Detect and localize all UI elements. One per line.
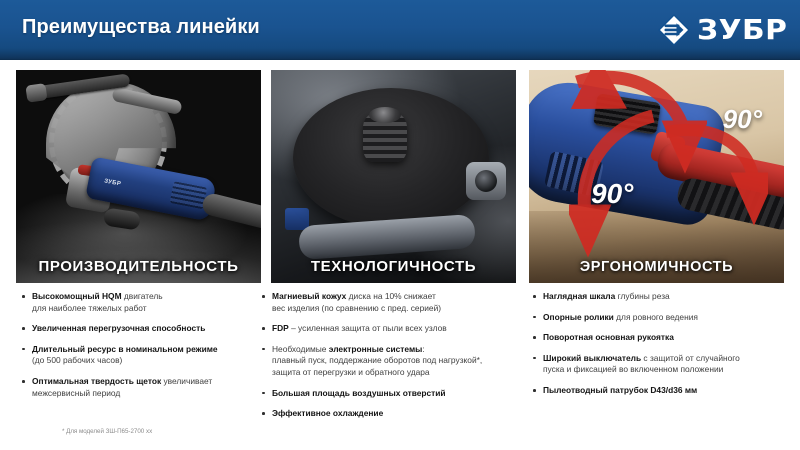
bullet-dot-icon [533,295,536,298]
bullet-emphasis: электронные системы [329,344,423,354]
angle-label-right: 90° [723,104,762,135]
bullet-emphasis: Длительный ресурс в номинальном режиме [32,344,218,354]
feature-list-performance: Высокомощный HQM двигательдля наиболее т… [22,291,248,408]
card-performance: ЗУБР ПРОИЗВОДИТЕЛЬНОСТЬ [16,70,261,283]
bullet-rest: диска на 10% снижает [346,291,436,301]
bullet-dot-icon [22,380,25,383]
feature-bullet: Большая площадь воздушных отверстий [262,388,514,400]
feature-bullet: Широкий выключатель с защитой от случайн… [533,353,785,376]
bullet-emphasis: Пылеотводный патрубок D43/d36 мм [543,385,697,395]
bullet-line2: плавный пуск, поддержание оборотов под н… [272,355,482,365]
page-title: Преимущества линейки [22,16,260,39]
grinder-handle-rotation-photo: 90° 90° [529,70,784,283]
feature-bullet: Поворотная основная рукоятка [533,332,785,344]
bullet-emphasis: Высокомощный HQM [32,291,122,301]
bullet-line2: межсервисный период [32,388,120,398]
bullet-dot-icon [22,295,25,298]
bullet-line2: (до 500 рабочих часов) [32,355,122,365]
bullet-emphasis: Магниевый кожух [272,291,346,301]
bullet-dot-icon [262,348,265,351]
feature-bullet: Оптимальная твердость щеток увеличиваетм… [22,376,248,399]
bullet-dot-icon [533,357,536,360]
feature-bullet: FDP – усиленная защита от пыли всех узло… [262,323,514,335]
bullet-rest: с защитой от случайного [641,353,740,363]
footnote: * Для моделей ЗШ-П65-2700 хх [62,428,152,435]
bullet-emphasis: Широкий выключатель [543,353,641,363]
angle-label-left: 90° [591,178,633,210]
feature-bullet: Пылеотводный патрубок D43/d36 мм [533,385,785,397]
bullet-dot-icon [22,327,25,330]
bullet-rest: – усиленная защита от пыли всех узлов [289,323,447,333]
bullet-line2: для наиболее тяжелых работ [32,303,147,313]
bullet-rest: : [422,344,424,354]
page-header: Преимущества линейки ЗУБР [0,0,800,60]
diamond-blade-closeup-photo [271,70,516,283]
bullet-emphasis: Наглядная шкала [543,291,615,301]
brand-wordmark: ЗУБР [697,16,787,44]
bullet-dot-icon [533,336,536,339]
brand-logo: ЗУБР [658,14,782,46]
bullet-dot-icon [22,348,25,351]
card-ergonomics: 90° 90° ЭРГОНОМИЧНОСТЬ [529,70,784,283]
feature-list-technology: Магниевый кожух диска на 10% снижаетвес … [262,291,514,429]
bullet-emphasis: Увеличенная перегрузочная способность [32,323,205,333]
feature-bullet: Увеличенная перегрузочная способность [22,323,248,335]
bullet-prefix: Необходимые [272,344,329,354]
feature-bullet: Высокомощный HQM двигательдля наиболее т… [22,291,248,314]
card-technology: ТЕХНОЛОГИЧНОСТЬ [271,70,516,283]
bullet-line2: пуска и фиксацией во включенном положени… [543,364,723,374]
feature-bullet: Наглядная шкала глубины реза [533,291,785,303]
bullet-rest: глубины реза [615,291,669,301]
bullet-emphasis: Большая площадь воздушных отверстий [272,388,446,398]
bullet-dot-icon [262,295,265,298]
feature-bullet: Опорные ролики для ровного ведения [533,312,785,324]
bullet-dot-icon [533,389,536,392]
bullet-dot-icon [262,327,265,330]
bullet-line3: защита от перегрузки и обратного удара [272,367,430,377]
bullet-dot-icon [262,412,265,415]
bullet-rest: увеличивает [161,376,212,386]
feature-bullet: Длительный ресурс в номинальном режиме(д… [22,344,248,367]
bullet-emphasis: Опорные ролики [543,312,614,322]
feature-bullet: Необходимые электронные системы:плавный … [262,344,514,379]
bullet-emphasis: Оптимальная твердость щеток [32,376,161,386]
bullet-line2: вес изделия (по сравнению с пред. серией… [272,303,441,313]
feature-bullet: Эффективное охлаждение [262,408,514,420]
angle-grinder-large-disc-photo: ЗУБР [16,70,261,283]
bullet-dot-icon [262,392,265,395]
bullet-dot-icon [533,316,536,319]
card-caption: ПРОИЗВОДИТЕЛЬНОСТЬ [16,258,261,275]
bullet-emphasis: FDP [272,323,289,333]
bullet-rest: для ровного ведения [614,312,698,322]
bullet-emphasis: Эффективное охлаждение [272,408,383,418]
bullet-emphasis: Поворотная основная рукоятка [543,332,674,342]
card-caption: ТЕХНОЛОГИЧНОСТЬ [271,258,516,275]
card-caption: ЭРГОНОМИЧНОСТЬ [529,259,784,275]
bullet-rest: двигатель [122,291,163,301]
feature-list-ergonomics: Наглядная шкала глубины резаОпорные роли… [533,291,785,406]
feature-bullet: Магниевый кожух диска на 10% снижаетвес … [262,291,514,314]
logo-diamond-e-icon [658,14,690,46]
